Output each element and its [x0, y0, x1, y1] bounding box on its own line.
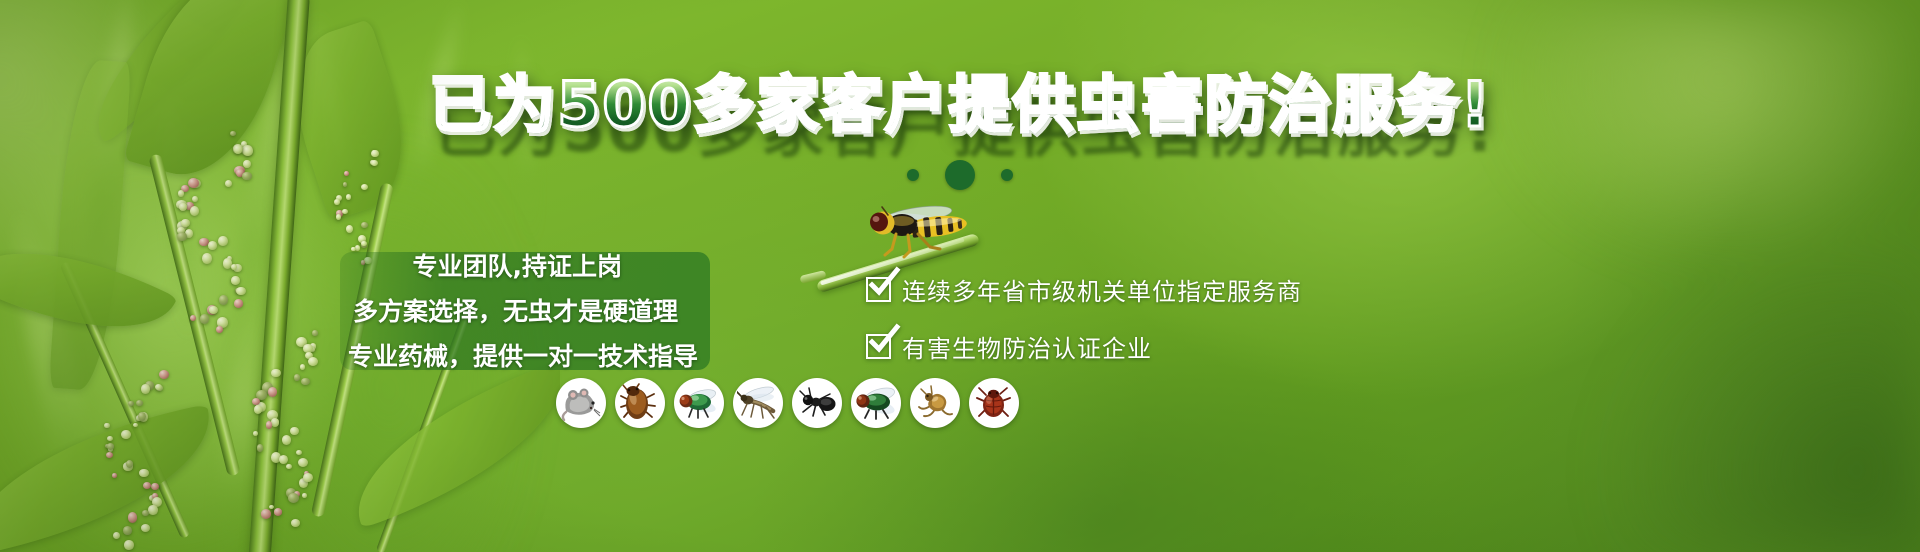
plant-seed-bead — [209, 306, 218, 314]
plant-seed-bead — [288, 493, 299, 503]
plant-seed-bead — [231, 276, 240, 284]
plant-seed-bead — [155, 384, 162, 390]
plant-seed-bead — [254, 405, 262, 413]
pest-type-icon-row — [556, 378, 1019, 428]
plant-seed-bead — [133, 423, 138, 427]
plant-seed-bead — [298, 458, 309, 468]
credential-label: 连续多年省市级机关单位指定服务商 — [902, 272, 1302, 307]
list-item: 连续多年省市级机关单位指定服务商 — [866, 272, 1302, 307]
plant-seed-bead — [303, 473, 313, 482]
bedbug-icon[interactable] — [969, 378, 1019, 428]
plant-seed-bead — [269, 505, 274, 510]
plant-seed-bead — [177, 232, 187, 240]
plant-seed-bead — [296, 450, 302, 455]
plant-seed-bead — [106, 452, 113, 458]
plant-seed-bead — [123, 526, 132, 535]
plant-seed-cluster — [230, 330, 340, 520]
ant-icon[interactable] — [792, 378, 842, 428]
plant-seed-bead — [151, 483, 159, 490]
plant-seed-bead — [279, 455, 288, 464]
plant-seed-bead — [290, 427, 299, 435]
flea-icon[interactable] — [910, 378, 960, 428]
plant-seed-bead — [346, 225, 353, 233]
plant-seed-bead — [361, 222, 368, 229]
plant-seed-bead — [216, 326, 223, 333]
plant-seed-bead — [112, 473, 117, 477]
plant-seed-bead — [190, 206, 200, 217]
plant-seed-bead — [113, 532, 120, 539]
plant-seed-bead — [351, 247, 355, 251]
dot-small-right-icon — [1001, 169, 1013, 181]
plant-seed-bead — [192, 196, 198, 203]
plant-seed-bead — [271, 369, 281, 377]
plant-seed-bead — [286, 464, 292, 469]
plant-seed-bead — [104, 423, 109, 428]
plant-seed-bead — [302, 493, 307, 498]
plant-seed-bead — [190, 315, 197, 321]
plant-seed-bead — [126, 460, 133, 468]
credential-label: 有害生物防治认证企业 — [902, 329, 1152, 364]
plant-seed-bead — [142, 510, 149, 516]
plant-seed-bead — [181, 219, 190, 227]
plant-seed-bead — [107, 436, 113, 441]
cockroach-icon[interactable] — [615, 378, 665, 428]
plant-seed-bead — [236, 287, 246, 296]
plant-seed-bead — [243, 146, 252, 156]
checkbox-checked-icon — [866, 277, 891, 302]
plant-seed-bead — [179, 203, 187, 212]
plant-seed-bead — [219, 295, 229, 305]
plant-seed-bead — [361, 241, 367, 246]
plant-seed-bead — [336, 214, 341, 219]
credentials-checklist: 连续多年省市级机关单位指定服务商 有害生物防治认证企业 — [866, 272, 1302, 386]
plant-seed-bead — [274, 508, 283, 516]
plant-seed-bead — [291, 519, 300, 527]
plant-seed-bead — [268, 387, 278, 397]
plant-seed-bead — [128, 512, 138, 523]
plant-seed-bead — [346, 194, 351, 200]
plant-seed-bead — [143, 482, 151, 489]
service-feature-line-3: 专业药械，提供一对一技术指导 — [348, 337, 698, 373]
checkbox-checked-icon — [866, 334, 891, 359]
plant-seed-bead — [300, 364, 305, 370]
decorative-dot-group — [0, 160, 1920, 190]
plant-seed-bead — [107, 443, 114, 449]
rat-icon[interactable] — [556, 378, 606, 428]
plant-seed-bead — [282, 435, 291, 445]
page-headline: 已为500多家客户提供虫害防治服务! — [429, 72, 1491, 139]
plant-seed-bead — [261, 509, 271, 518]
plant-seed-bead — [138, 412, 146, 421]
plant-seed-bead — [200, 314, 209, 324]
plant-seed-bead — [128, 401, 134, 407]
plant-seed-bead — [257, 444, 264, 451]
plant-seed-bead — [234, 145, 242, 154]
dot-big-center-icon — [945, 160, 975, 190]
plant-seed-bead — [301, 378, 310, 385]
plant-seed-bead — [136, 400, 143, 406]
plant-seed-bead — [334, 199, 339, 205]
plant-seed-bead — [139, 469, 148, 477]
plant-seed-bead — [218, 236, 227, 246]
plant-seed-bead — [159, 370, 169, 379]
plant-seed-bead — [178, 190, 184, 197]
service-features-panel: 专业团队,持证上岗 多方案选择，无虫才是硬道理 专业药械，提供一对一技术指导 — [340, 252, 710, 370]
plant-seed-bead — [148, 505, 157, 515]
plant-seed-bead — [141, 384, 150, 394]
dot-small-left-icon — [907, 169, 919, 181]
plant-seed-bead — [312, 330, 318, 336]
pest-control-banner: 已为500多家客户提供虫害防治服务! 已为500多家客户提供虫害防治服务! — [0, 0, 1920, 552]
service-feature-line-2: 多方案选择，无虫才是硬道理 — [353, 292, 678, 328]
hoverfly-icon — [852, 199, 982, 263]
housefly-icon[interactable] — [851, 378, 901, 428]
plant-seed-bead — [342, 209, 348, 214]
plant-seed-cluster — [85, 370, 185, 540]
fly-icon[interactable] — [674, 378, 724, 428]
plant-seed-bead — [121, 430, 131, 439]
plant-seed-bead — [141, 524, 151, 532]
plant-seed-bead — [208, 241, 217, 250]
plant-seed-bead — [294, 374, 300, 381]
plant-seed-bead — [371, 150, 378, 157]
plant-seed-bead — [253, 431, 258, 436]
plant-seed-bead — [234, 299, 243, 308]
plant-seed-bead — [202, 253, 212, 264]
plant-seed-bead — [308, 357, 319, 367]
headline-area: 已为500多家客户提供虫害防治服务! 已为500多家客户提供虫害防治服务! — [0, 72, 1920, 139]
plant-seed-bead — [124, 540, 134, 550]
plant-seed-bead — [266, 421, 273, 428]
service-feature-line-1: 专业团队,持证上岗 — [413, 247, 623, 283]
mosquito-icon[interactable] — [733, 378, 783, 428]
list-item: 有害生物防治认证企业 — [866, 329, 1302, 364]
